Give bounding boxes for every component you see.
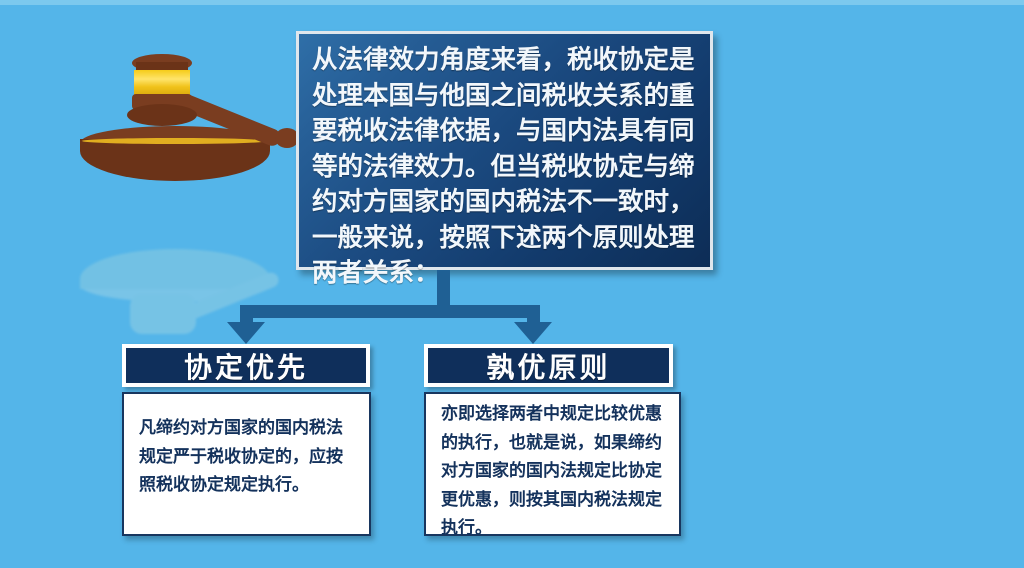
gavel-block-body: [80, 139, 270, 181]
gavel-gold-band: [134, 70, 190, 96]
main-statement-box: 从法律效力角度来看，税收协定是处理本国与他国之间税收关系的重要税收法律依据，与国…: [296, 31, 713, 270]
branch-body-text: 凡缔约对方国家的国内税法规定严于税收协定的，应按照税收协定规定执行。: [139, 414, 355, 500]
connector-horizontal-bar: [240, 305, 540, 318]
arrow-down-icon-left: [227, 322, 265, 344]
branch-body-more-favorable-principle: 亦即选择两者中规定比较优惠的执行，也就是说，如果缔约对方国家的国内法规定比协定更…: [424, 392, 681, 536]
gavel-block-gold-stripe: [82, 138, 268, 144]
reflection-head: [130, 294, 196, 334]
slide-canvas: 从法律效力角度来看，税收协定是处理本国与他国之间税收关系的重要税收法律依据，与国…: [0, 0, 1024, 568]
top-edge-strip: [0, 0, 1024, 5]
gavel-head-ring-bottom: [127, 104, 197, 126]
branch-body-text: 亦即选择两者中规定比较优惠的执行，也就是说，如果缔约对方国家的国内法规定比协定更…: [441, 400, 669, 543]
branch-header-label: 孰优原则: [486, 346, 610, 386]
branch-header-more-favorable-principle: 孰优原则: [424, 344, 673, 387]
branch-header-label: 协定优先: [184, 346, 308, 386]
gavel-icon: [72, 38, 292, 248]
arrow-down-icon-right: [514, 322, 552, 344]
main-statement-text: 从法律效力角度来看，税收协定是处理本国与他国之间税收关系的重要税收法律依据，与国…: [312, 43, 704, 292]
branch-header-treaty-priority: 协定优先: [122, 344, 370, 387]
branch-body-treaty-priority: 凡缔约对方国家的国内税法规定严于税收协定的，应按照税收协定规定执行。: [122, 392, 371, 536]
